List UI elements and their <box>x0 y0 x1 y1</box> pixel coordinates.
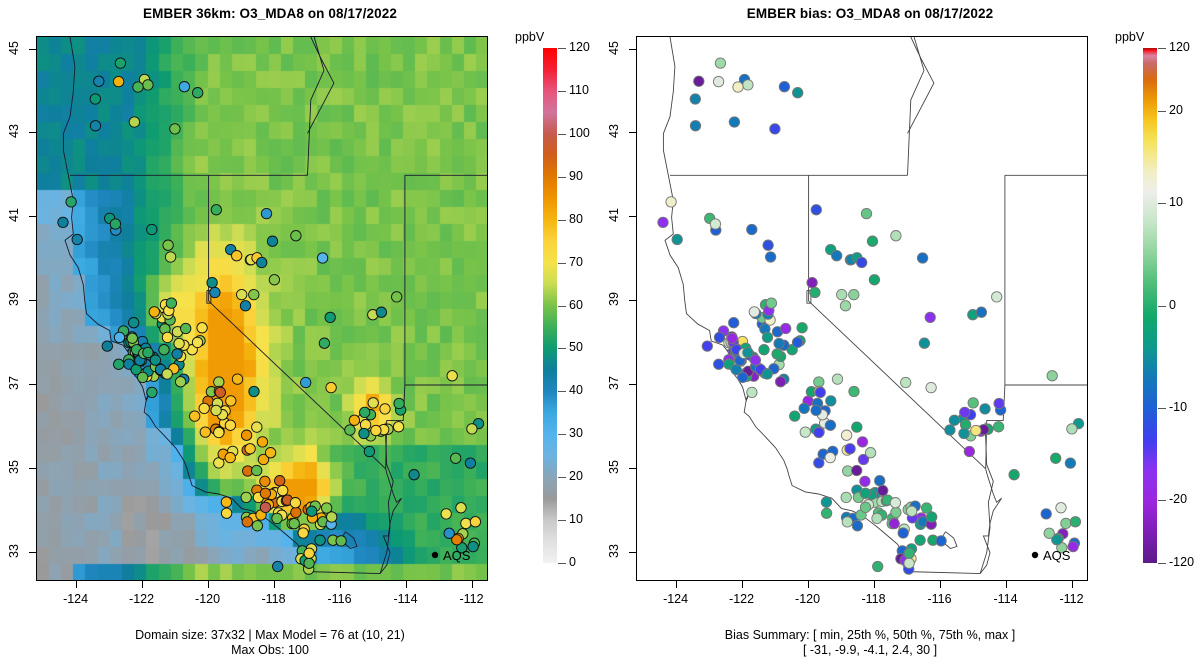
aqs-station-marker[interactable] <box>127 333 137 343</box>
aqs-station-marker[interactable] <box>976 307 986 317</box>
aqs-station-marker[interactable] <box>807 277 817 287</box>
aqs-station-marker[interactable] <box>114 359 124 369</box>
aqs-station-marker[interactable] <box>890 498 900 508</box>
colorbar-tick-label: 100 <box>569 126 590 140</box>
colorbar-tick-label: 110 <box>569 83 589 97</box>
aqs-station-marker[interactable] <box>245 444 255 454</box>
y-tick <box>29 132 36 133</box>
y-tick <box>629 132 636 133</box>
y-tick-label: 35 <box>7 447 21 487</box>
aqs-station-marker[interactable] <box>814 427 824 437</box>
aqs-station-marker[interactable] <box>964 446 974 456</box>
aqs-station-marker[interactable] <box>1056 503 1066 513</box>
aqs-station-marker[interactable] <box>364 446 374 456</box>
aqs-station-marker[interactable] <box>790 411 800 421</box>
aqs-station-marker[interactable] <box>197 323 207 333</box>
colorbar-tick <box>558 48 566 49</box>
y-tick-label: 43 <box>607 111 621 151</box>
aqs-station-marker[interactable] <box>714 332 724 342</box>
colorbar-gradient <box>543 48 557 563</box>
aqs-station-marker[interactable] <box>199 403 209 413</box>
aqs-station-marker[interactable] <box>252 422 262 432</box>
caption-domain-size: Domain size: 37x32 | Max Model = 76 at (… <box>0 628 540 643</box>
aqs-station-marker[interactable] <box>860 476 870 486</box>
aqs-station-marker[interactable] <box>749 307 759 317</box>
colorbar-tick <box>558 220 566 221</box>
aqs-station-marker[interactable] <box>275 476 285 486</box>
aqs-station-marker[interactable] <box>765 252 775 262</box>
aqs-station-marker[interactable] <box>456 503 466 513</box>
aqs-station-marker[interactable] <box>994 398 1004 408</box>
aqs-station-marker[interactable] <box>260 502 270 512</box>
aqs-station-marker[interactable] <box>825 452 835 462</box>
aqs-station-marker[interactable] <box>211 405 221 415</box>
aqs-station-marker[interactable] <box>841 430 851 440</box>
aqs-station-marker[interactable] <box>713 76 723 86</box>
aqs-station-marker[interactable] <box>289 518 299 528</box>
x-tick-label: -118 <box>844 592 904 606</box>
aqs-station-marker[interactable] <box>175 377 185 387</box>
aqs-station-marker[interactable] <box>163 240 173 250</box>
aqs-station-marker[interactable] <box>849 289 859 299</box>
aqs-station-marker[interactable] <box>211 205 221 215</box>
aqs-station-marker[interactable] <box>240 301 250 311</box>
aqs-station-marker[interactable] <box>857 437 867 447</box>
aqs-station-marker[interactable] <box>133 82 143 92</box>
aqs-station-marker[interactable] <box>1044 528 1054 538</box>
aqs-station-marker[interactable] <box>925 312 935 322</box>
aqs-station-marker[interactable] <box>129 117 139 127</box>
aqs-station-marker[interactable] <box>179 82 189 92</box>
aqs-station-marker[interactable] <box>762 369 772 379</box>
aqs-station-marker[interactable] <box>159 345 169 355</box>
aqs-station-marker[interactable] <box>441 509 451 519</box>
aqs-station-marker[interactable] <box>102 341 112 351</box>
y-tick <box>29 468 36 469</box>
aqs-station-marker[interactable] <box>849 386 859 396</box>
aqs-station-marker[interactable] <box>763 240 773 250</box>
aqs-station-marker[interactable] <box>904 548 914 558</box>
aqs-station-marker[interactable] <box>215 387 225 397</box>
aqs-station-marker[interactable] <box>772 349 782 359</box>
aqs-station-marker[interactable] <box>110 219 120 229</box>
aqs-station-marker[interactable] <box>714 359 724 369</box>
aqs-station-marker[interactable] <box>860 502 870 512</box>
colorbar-tick <box>558 134 566 135</box>
colorbar-tick-label: 90 <box>569 169 583 183</box>
aqs-station-marker[interactable] <box>747 224 757 234</box>
aqs-station-marker[interactable] <box>249 289 259 299</box>
aqs-station-marker[interactable] <box>252 521 262 531</box>
map-boundary-line <box>380 469 402 574</box>
aqs-station-marker[interactable] <box>729 117 739 127</box>
aqs-station-marker[interactable] <box>810 287 820 297</box>
aqs-station-marker[interactable] <box>181 323 191 333</box>
aqs-station-marker[interactable] <box>779 82 789 92</box>
colorbar-tick-label: 0 <box>1169 298 1176 312</box>
y-tick <box>629 216 636 217</box>
aqs-station-marker[interactable] <box>162 369 172 379</box>
aqs-station-marker[interactable] <box>261 208 271 218</box>
aqs-station-marker[interactable] <box>852 521 862 531</box>
y-tick-label: 39 <box>607 279 621 319</box>
aqs-station-marker[interactable] <box>444 528 454 538</box>
aqs-station-marker[interactable] <box>166 298 176 308</box>
aqs-station-marker[interactable] <box>750 355 760 365</box>
aqs-station-marker[interactable] <box>467 424 477 434</box>
aqs-station-marker[interactable] <box>815 387 825 397</box>
y-tick <box>29 49 36 50</box>
aqs-station-marker[interactable] <box>743 80 753 90</box>
x-tick <box>808 581 809 588</box>
aqs-station-marker[interactable] <box>336 536 346 546</box>
aqs-station-marker[interactable] <box>992 292 1002 302</box>
aqs-station-marker[interactable] <box>193 88 203 98</box>
aqs-station-marker[interactable] <box>770 124 780 134</box>
aqs-station-marker[interactable] <box>837 289 847 299</box>
page-title-model: EMBER 36km: O3_MDA8 on 08/17/2022 <box>0 6 540 21</box>
colorbar-tick <box>1158 408 1166 409</box>
aqs-station-marker[interactable] <box>376 307 386 317</box>
aqs-station-marker[interactable] <box>915 535 925 545</box>
aqs-station-marker[interactable] <box>307 506 317 516</box>
aqs-station-marker[interactable] <box>821 508 831 518</box>
map-plot-model[interactable]: AQS <box>36 36 488 581</box>
aqs-station-marker[interactable] <box>907 506 917 516</box>
aqs-station-marker[interactable] <box>360 407 370 417</box>
aqs-station-marker[interactable] <box>814 377 824 387</box>
aqs-station-marker[interactable] <box>747 387 757 397</box>
y-tick <box>29 300 36 301</box>
aqs-station-marker[interactable] <box>825 420 835 430</box>
aqs-station-marker[interactable] <box>873 561 883 571</box>
aqs-station-marker[interactable] <box>192 337 202 347</box>
aqs-station-marker[interactable] <box>345 425 355 435</box>
aqs-station-marker[interactable] <box>174 338 184 348</box>
aqs-station-marker[interactable] <box>869 275 879 285</box>
aqs-station-marker[interactable] <box>249 386 259 396</box>
x-tick <box>406 581 407 588</box>
x-tick-label: -122 <box>712 592 772 606</box>
aqs-station-marker[interactable] <box>150 355 160 365</box>
aqs-station-marker[interactable] <box>447 371 457 381</box>
aqs-station-marker[interactable] <box>927 512 937 522</box>
aqs-station-marker[interactable] <box>875 476 885 486</box>
aqs-legend-dot <box>432 552 438 558</box>
aqs-station-marker[interactable] <box>845 444 855 454</box>
aqs-station-marker[interactable] <box>380 404 390 414</box>
aqs-station-marker[interactable] <box>392 292 402 302</box>
aqs-station-marker[interactable] <box>840 301 850 311</box>
aqs-station-marker[interactable] <box>269 275 279 285</box>
aqs-station-marker[interactable] <box>291 231 301 241</box>
colorbar-tick-label: 40 <box>569 383 583 397</box>
colorbar-tick-label: 80 <box>569 212 583 226</box>
aqs-legend: AQS <box>432 548 471 563</box>
aqs-station-marker[interactable] <box>272 513 282 523</box>
y-tick-label: 35 <box>607 447 621 487</box>
y-tick <box>29 384 36 385</box>
aqs-station-marker[interactable] <box>257 437 267 447</box>
aqs-legend: AQS <box>1032 548 1071 563</box>
aqs-station-marker[interactable] <box>165 252 175 262</box>
aqs-station-marker[interactable] <box>325 312 335 322</box>
aqs-station-marker[interactable] <box>842 517 852 527</box>
aqs-station-marker[interactable] <box>799 403 809 413</box>
aqs-station-marker[interactable] <box>257 257 267 267</box>
aqs-station-marker[interactable] <box>278 485 288 495</box>
aqs-station-marker[interactable] <box>214 427 224 437</box>
aqs-station-marker[interactable] <box>658 217 668 227</box>
colorbar-tick-label: 120 <box>1169 40 1190 54</box>
aqs-station-marker[interactable] <box>368 398 378 408</box>
aqs-station-marker[interactable] <box>878 485 888 495</box>
colorbar-tick-label: 70 <box>569 255 583 269</box>
aqs-station-marker[interactable] <box>143 80 153 90</box>
aqs-station-marker[interactable] <box>666 197 676 207</box>
y-tick-label: 43 <box>7 111 21 151</box>
aqs-station-marker[interactable] <box>926 382 936 392</box>
aqs-station-marker[interactable] <box>1061 518 1071 528</box>
x-tick-label: -116 <box>910 592 970 606</box>
aqs-station-marker[interactable] <box>960 407 970 417</box>
map-boundary-line <box>304 572 380 574</box>
aqs-station-marker[interactable] <box>1051 453 1061 463</box>
aqs-station-marker[interactable] <box>891 231 901 241</box>
aqs-station-marker[interactable] <box>826 396 836 406</box>
aqs-station-marker[interactable] <box>190 411 200 421</box>
aqs-station-marker[interactable] <box>210 287 220 297</box>
aqs-station-marker[interactable] <box>715 58 725 68</box>
aqs-station-marker[interactable] <box>852 465 862 475</box>
aqs-station-marker[interactable] <box>811 405 821 415</box>
aqs-station-marker[interactable] <box>301 377 311 387</box>
aqs-station-marker[interactable] <box>919 338 929 348</box>
aqs-station-marker[interactable] <box>694 76 704 86</box>
aqs-station-marker[interactable] <box>72 234 82 244</box>
aqs-station-marker[interactable] <box>1067 424 1077 434</box>
aqs-station-marker[interactable] <box>221 508 231 518</box>
aqs-station-marker[interactable] <box>1065 458 1075 468</box>
aqs-station-marker[interactable] <box>690 94 700 104</box>
aqs-station-marker[interactable] <box>326 382 336 392</box>
y-tick-label: 33 <box>607 531 621 571</box>
aqs-station-marker[interactable] <box>980 404 990 414</box>
aqs-station-marker[interactable] <box>226 396 236 406</box>
aqs-station-marker[interactable] <box>867 236 877 246</box>
x-tick-label: -116 <box>310 592 370 606</box>
aqs-station-marker[interactable] <box>94 76 104 86</box>
aqs-station-marker[interactable] <box>241 430 251 440</box>
colorbar-tick <box>558 306 566 307</box>
aqs-station-marker[interactable] <box>90 121 100 131</box>
aqs-station-marker[interactable] <box>241 492 251 502</box>
aqs-station-marker[interactable] <box>237 289 247 299</box>
aqs-station-marker[interactable] <box>470 517 480 527</box>
aqs-station-marker[interactable] <box>889 518 899 528</box>
aqs-station-marker[interactable] <box>267 236 277 246</box>
x-tick-label: -112 <box>442 592 502 606</box>
aqs-station-marker[interactable] <box>1009 470 1019 480</box>
aqs-station-marker[interactable] <box>821 497 831 507</box>
aqs-station-marker[interactable] <box>115 58 125 68</box>
x-tick <box>1072 581 1073 588</box>
aqs-station-marker[interactable] <box>252 465 262 475</box>
aqs-station-marker[interactable] <box>800 427 810 437</box>
aqs-station-marker[interactable] <box>792 337 802 347</box>
aqs-station-marker[interactable] <box>465 458 475 468</box>
colorbar-tick-label: 120 <box>569 40 590 54</box>
aqs-station-marker[interactable] <box>225 452 235 462</box>
aqs-station-marker[interactable] <box>811 205 821 215</box>
aqs-station-marker[interactable] <box>304 548 314 558</box>
aqs-station-marker[interactable] <box>727 333 737 343</box>
aqs-station-marker[interactable] <box>200 427 210 437</box>
aqs-station-marker[interactable] <box>971 425 981 435</box>
aqs-station-marker[interactable] <box>129 318 139 328</box>
aqs-station-marker[interactable] <box>832 374 842 384</box>
aqs-station-marker[interactable] <box>793 88 803 98</box>
aqs-station-marker[interactable] <box>781 323 791 333</box>
aqs-station-marker[interactable] <box>759 345 769 355</box>
y-tick-label: 39 <box>7 279 21 319</box>
x-tick-label: -114 <box>976 592 1036 606</box>
aqs-station-marker[interactable] <box>968 398 978 408</box>
aqs-station-marker[interactable] <box>702 341 712 351</box>
aqs-station-marker[interactable] <box>315 535 325 545</box>
aqs-station-marker[interactable] <box>147 224 157 234</box>
aqs-station-marker[interactable] <box>221 497 231 507</box>
y-tick-label: 33 <box>7 531 21 571</box>
aqs-station-marker[interactable] <box>394 398 404 408</box>
aqs-station-marker[interactable] <box>917 253 927 263</box>
aqs-station-marker[interactable] <box>359 428 369 438</box>
aqs-station-marker[interactable] <box>147 387 157 397</box>
aqs-station-marker[interactable] <box>66 197 76 207</box>
x-tick-label: -124 <box>646 592 706 606</box>
colorbar-tick-label: 20 <box>1169 103 1183 117</box>
aqs-station-marker[interactable] <box>891 507 901 517</box>
aqs-station-marker[interactable] <box>901 377 911 387</box>
aqs-station-marker[interactable] <box>949 415 959 425</box>
x-tick <box>676 581 677 588</box>
x-tick <box>208 581 209 588</box>
colorbar-tick <box>1158 48 1166 49</box>
aqs-station-marker[interactable] <box>841 492 851 502</box>
aqs-station-marker[interactable] <box>317 253 327 263</box>
aqs-station-marker[interactable] <box>138 372 148 382</box>
aqs-station-marker[interactable] <box>290 498 300 508</box>
y-tick <box>29 552 36 553</box>
aqs-station-marker[interactable] <box>298 528 308 538</box>
colorbar-tick-label: 10 <box>1169 195 1183 209</box>
colorbar-tick <box>1158 500 1166 501</box>
aqs-station-marker[interactable] <box>349 415 359 425</box>
aqs-station-marker[interactable] <box>273 561 283 571</box>
aqs-station-marker[interactable] <box>936 536 946 546</box>
aqs-station-marker[interactable] <box>371 425 381 435</box>
aqs-station-marker[interactable] <box>774 338 784 348</box>
aqs-station-marker[interactable] <box>832 251 842 261</box>
aqs-station-marker[interactable] <box>852 422 862 432</box>
aqs-station-marker[interactable] <box>207 277 217 287</box>
aqs-station-marker[interactable] <box>214 377 224 387</box>
aqs-station-marker[interactable] <box>242 517 252 527</box>
aqs-station-marker[interactable] <box>766 298 776 308</box>
aqs-station-marker[interactable] <box>409 470 419 480</box>
aqs-station-marker[interactable] <box>327 512 337 522</box>
aqs-station-marker[interactable] <box>58 217 68 227</box>
aqs-station-marker[interactable] <box>232 374 242 384</box>
model-overlay-svg: AQS <box>37 37 488 581</box>
aqs-station-marker[interactable] <box>1047 371 1057 381</box>
aqs-station-marker[interactable] <box>113 76 123 86</box>
aqs-station-marker[interactable] <box>729 318 739 328</box>
x-tick <box>940 581 941 588</box>
panel-bias: EMBER bias: O3_MDA8 on 08/17/2022 AQS -1… <box>600 0 1200 672</box>
aqs-station-marker[interactable] <box>461 518 471 528</box>
aqs-station-marker[interactable] <box>170 124 180 134</box>
aqs-station-marker[interactable] <box>162 332 172 342</box>
aqs-station-marker[interactable] <box>672 234 682 244</box>
aqs-station-marker[interactable] <box>860 488 870 498</box>
aqs-station-marker[interactable] <box>762 332 772 342</box>
aqs-legend-label: AQS <box>1043 548 1071 563</box>
aqs-station-marker[interactable] <box>904 558 914 568</box>
aqs-station-marker[interactable] <box>260 476 270 486</box>
aqs-station-marker[interactable] <box>738 372 748 382</box>
aqs-station-marker[interactable] <box>451 453 461 463</box>
map-plot-bias[interactable]: AQS <box>636 36 1088 581</box>
aqs-station-marker[interactable] <box>172 349 182 359</box>
aqs-station-marker[interactable] <box>304 558 314 568</box>
aqs-station-marker[interactable] <box>945 425 955 435</box>
aqs-station-marker[interactable] <box>393 422 403 432</box>
colorbar-tick-label: 60 <box>569 298 583 312</box>
aqs-station-marker[interactable] <box>797 323 807 333</box>
colorbar-tick <box>1158 203 1166 204</box>
y-tick <box>629 384 636 385</box>
caption-max-obs: Max Obs: 100 <box>0 643 540 658</box>
aqs-station-marker[interactable] <box>775 377 785 387</box>
aqs-station-marker[interactable] <box>232 251 242 261</box>
aqs-station-marker[interactable] <box>865 448 875 458</box>
y-tick-label: 41 <box>607 195 621 235</box>
aqs-station-marker[interactable] <box>225 420 235 430</box>
aqs-station-marker[interactable] <box>265 448 275 458</box>
aqs-station-marker[interactable] <box>319 338 329 348</box>
aqs-station-marker[interactable] <box>90 94 100 104</box>
aqs-station-marker[interactable] <box>959 428 969 438</box>
aqs-station-marker[interactable] <box>690 121 700 131</box>
aqs-station-marker[interactable] <box>898 528 908 538</box>
aqs-station-marker[interactable] <box>710 219 720 229</box>
caption-bias-header: Bias Summary: [ min, 25th %, 50th %, 75t… <box>600 628 1140 643</box>
aqs-station-marker[interactable] <box>733 82 743 92</box>
aqs-station-marker[interactable] <box>114 332 124 342</box>
aqs-station-marker[interactable] <box>861 208 871 218</box>
aqs-legend-dot <box>1032 552 1038 558</box>
aqs-station-marker[interactable] <box>1070 517 1080 527</box>
aqs-station-marker[interactable] <box>872 513 882 523</box>
x-tick <box>742 581 743 588</box>
aqs-station-marker[interactable] <box>291 507 301 517</box>
aqs-station-marker[interactable] <box>1041 509 1051 519</box>
aqs-station-marker[interactable] <box>260 488 270 498</box>
aqs-station-marker[interactable] <box>857 257 867 267</box>
aqs-station-marker[interactable] <box>149 307 159 317</box>
aqs-station-marker[interactable] <box>993 422 1003 432</box>
